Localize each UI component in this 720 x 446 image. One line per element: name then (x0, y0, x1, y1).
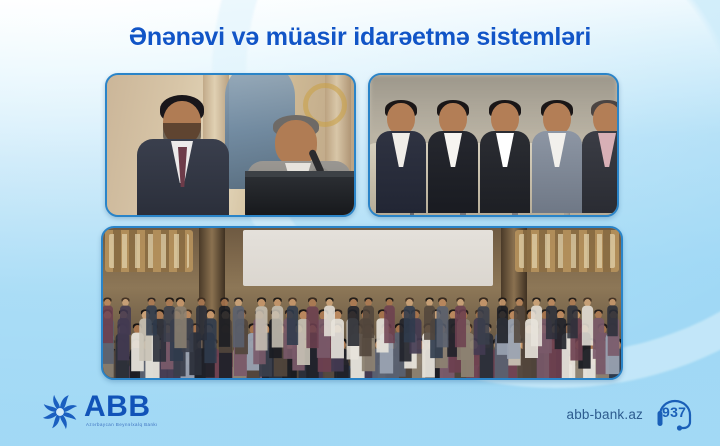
abb-subtitle: Azərbaycan Beynəlxalq Bankı (86, 422, 158, 428)
photo-presenters-image (107, 75, 354, 215)
photo-audience[interactable] (368, 73, 619, 217)
abb-wordmark: ABB (84, 391, 151, 423)
footer-contact: abb-bank.az 937 (566, 396, 698, 432)
crowd-figures (103, 238, 621, 356)
photo-group[interactable] (101, 226, 623, 380)
photo-group-image (103, 228, 621, 378)
abb-swirl-icon (38, 390, 82, 434)
abb-logo[interactable]: ABB Azərbaycan Beynəlxalq Bankı (38, 389, 288, 435)
photo-audience-image (370, 75, 617, 215)
website-link[interactable]: abb-bank.az (566, 407, 643, 422)
call-center-number: 937 (662, 404, 686, 420)
page-title: Ənənəvi və müasir idarəetmə sistemləri (0, 22, 720, 52)
slide-canvas: Ənənəvi və müasir idarəetmə sistemləri (0, 0, 720, 446)
call-center-badge[interactable]: 937 (652, 395, 698, 433)
photo-presenters[interactable] (105, 73, 356, 217)
